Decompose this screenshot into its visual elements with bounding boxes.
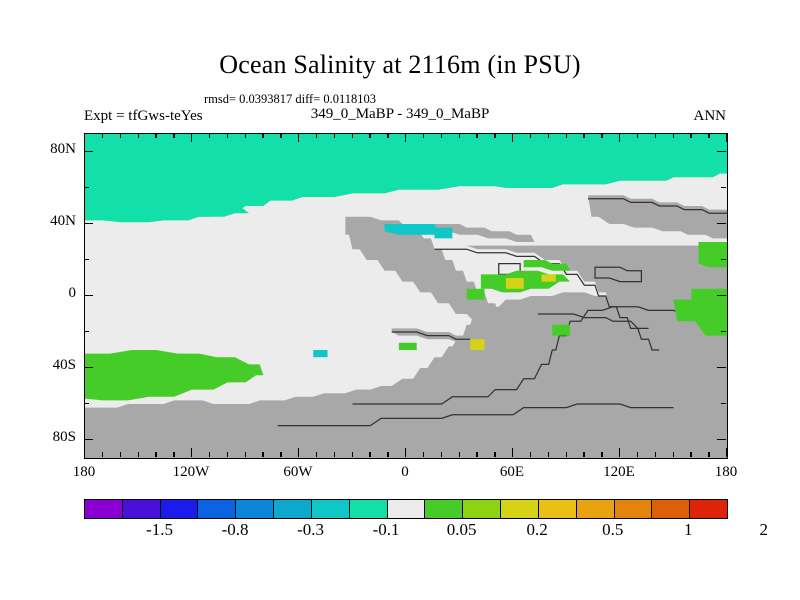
x-tick-minor-top [494,133,495,138]
x-tick-minor-top [316,133,317,138]
colorbar-cell[interactable] [350,500,388,518]
y-axis-label: 80N [16,141,76,158]
x-tick-major-top [726,133,727,142]
x-tick-minor-top [138,133,139,138]
x-tick-minor [173,452,174,457]
x-tick-minor [476,452,477,457]
x-tick-minor-top [209,133,210,138]
x-tick-minor [316,452,317,457]
x-tick-major-top [512,133,513,142]
x-tick-minor-top [548,133,549,138]
x-tick-major-top [298,133,299,142]
x-tick-minor [387,452,388,457]
colorbar-tick-labels: -1.5-0.8-0.3-0.10.050.20.512 [84,520,726,544]
x-tick-minor [637,452,638,457]
colorbar-cell[interactable] [123,500,161,518]
x-tick-minor-top [423,133,424,138]
y-axis-label: 0 [16,285,76,302]
x-tick-minor [262,452,263,457]
salinity-difference-map [85,134,727,458]
x-tick-minor-top [530,133,531,138]
x-tick-minor-top [280,133,281,138]
y-tick-major-right [717,439,726,440]
x-tick-major-top [405,133,406,142]
x-tick-minor-top [334,133,335,138]
x-tick-minor-top [120,133,121,138]
colorbar-tick-label: 0.2 [502,520,572,540]
colorbar-cell[interactable] [577,500,615,518]
x-tick-minor [227,452,228,457]
y-tick-major-right [717,367,726,368]
colorbar-cell[interactable] [690,500,727,518]
map-plot-area[interactable] [84,133,728,459]
x-tick-major [512,448,513,457]
colorbar-cell[interactable] [539,500,577,518]
x-tick-minor-top [369,133,370,138]
y-tick-major [84,151,93,152]
colorbar-cell[interactable] [652,500,690,518]
colorbar-tick-label: 0.05 [427,520,497,540]
x-tick-minor [601,452,602,457]
y-tick-minor-right [721,403,726,404]
x-tick-major-top [84,133,85,142]
colorbar-cell[interactable] [615,500,653,518]
x-tick-minor [583,452,584,457]
colorbar-tick-label: -1.5 [125,520,195,540]
y-axis-label: 40N [16,213,76,230]
x-tick-minor-top [352,133,353,138]
y-tick-minor [84,187,89,188]
x-axis-label: 120E [584,464,654,481]
x-tick-major [726,448,727,457]
x-tick-minor [102,452,103,457]
colorbar-tick-label: 2 [729,520,799,540]
y-tick-major [84,295,93,296]
statistics-line: rmsd= 0.0393817 diff= 0.0118103 [0,92,580,107]
colorbar-cell[interactable] [198,500,236,518]
season-label: ANN [0,108,726,125]
x-tick-major [298,448,299,457]
y-tick-major [84,223,93,224]
x-tick-major [619,448,620,457]
x-tick-minor [459,452,460,457]
x-tick-minor [352,452,353,457]
colorbar-cell[interactable] [501,500,539,518]
x-tick-minor [655,452,656,457]
colorbar-tick-label: -0.8 [200,520,270,540]
colorbar-tick-label: -0.3 [276,520,346,540]
y-tick-minor-right [721,187,726,188]
x-tick-minor-top [690,133,691,138]
colorbar-cell[interactable] [388,500,426,518]
colorbar-tick-label: -0.1 [351,520,421,540]
x-axis-label: 120W [156,464,226,481]
x-tick-minor [369,452,370,457]
x-tick-minor-top [459,133,460,138]
y-tick-minor [84,403,89,404]
x-tick-minor [334,452,335,457]
x-tick-minor [673,452,674,457]
y-tick-major [84,439,93,440]
x-tick-minor [120,452,121,457]
colorbar-cell[interactable] [425,500,463,518]
x-tick-minor-top [708,133,709,138]
x-tick-minor-top [476,133,477,138]
x-tick-major [84,448,85,457]
colorbar-cell[interactable] [161,500,199,518]
colorbar-cell[interactable] [85,500,123,518]
x-tick-minor [548,452,549,457]
x-tick-minor-top [655,133,656,138]
y-tick-major-right [717,295,726,296]
x-tick-minor-top [245,133,246,138]
x-tick-minor-top [173,133,174,138]
x-axis-label: 180 [691,464,761,481]
x-tick-minor [245,452,246,457]
x-tick-minor [566,452,567,457]
y-tick-major [84,367,93,368]
x-axis-label: 0 [370,464,440,481]
colorbar[interactable] [84,499,728,519]
x-tick-minor-top [227,133,228,138]
colorbar-cell[interactable] [312,500,350,518]
x-tick-minor [423,452,424,457]
x-tick-minor-top [387,133,388,138]
y-tick-major-right [717,223,726,224]
x-tick-minor-top [637,133,638,138]
colorbar-cell[interactable] [274,500,312,518]
colorbar-cell[interactable] [463,500,501,518]
x-tick-major [191,448,192,457]
x-tick-major [405,448,406,457]
y-tick-minor [84,331,89,332]
colorbar-cell[interactable] [236,500,274,518]
y-axis-label: 80S [16,429,76,446]
x-axis-label: 60W [263,464,333,481]
colorbar-tick-label: 1 [653,520,723,540]
x-tick-minor [155,452,156,457]
y-tick-minor [84,259,89,260]
x-tick-minor [494,452,495,457]
page-title: Ocean Salinity at 2116m (in PSU) [0,50,800,80]
x-tick-minor-top [601,133,602,138]
y-tick-minor-right [721,259,726,260]
x-tick-minor [138,452,139,457]
y-axis-label: 40S [16,357,76,374]
x-tick-minor-top [102,133,103,138]
x-tick-minor-top [441,133,442,138]
x-tick-minor-top [673,133,674,138]
x-tick-minor-top [583,133,584,138]
x-tick-minor [209,452,210,457]
x-tick-minor-top [155,133,156,138]
y-tick-minor-right [721,331,726,332]
x-tick-minor-top [262,133,263,138]
x-tick-minor [280,452,281,457]
x-axis-label: 180 [49,464,119,481]
x-tick-minor [708,452,709,457]
x-tick-major-top [619,133,620,142]
x-tick-minor [441,452,442,457]
y-tick-major-right [717,151,726,152]
x-axis-label: 60E [477,464,547,481]
colorbar-tick-label: 0.5 [578,520,648,540]
x-tick-minor-top [566,133,567,138]
x-tick-minor [530,452,531,457]
x-tick-major-top [191,133,192,142]
x-tick-minor [690,452,691,457]
